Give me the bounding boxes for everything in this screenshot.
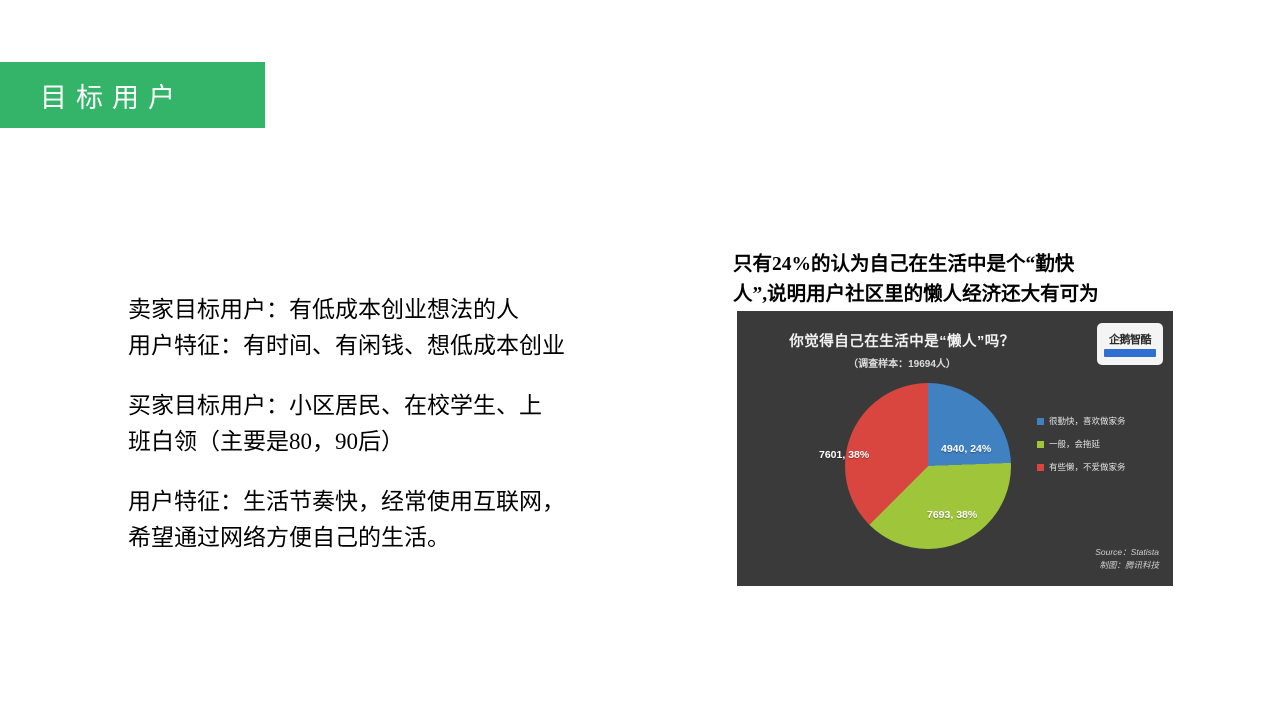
legend-label-0: 很勤快，喜欢做家务 xyxy=(1049,415,1126,427)
legend-swatch-icon xyxy=(1037,441,1044,448)
pie-circle xyxy=(845,383,1011,549)
page-title: 目标用户 xyxy=(0,76,184,115)
legend-label-1: 一般，会拖延 xyxy=(1049,438,1100,450)
legend-swatch-icon xyxy=(1037,464,1044,471)
legend-item-2: 有些懒，不爱做家务 xyxy=(1037,461,1169,473)
slide-header-banner: 目标用户 xyxy=(0,62,265,128)
legend-item-0: 很勤快，喜欢做家务 xyxy=(1037,415,1169,427)
pie-slice-label-2: 7601, 38% xyxy=(819,449,869,461)
penguin-intelligence-logo: 企鹅智酷 xyxy=(1097,323,1163,365)
survey-pie-chart-image: 你觉得自己在生活中是“懒人”吗？ （调查样本：19694人） 企鹅智酷 4940… xyxy=(737,311,1173,586)
pie-chart: 4940, 24% 7693, 38% 7601, 38% xyxy=(845,383,1011,549)
legend-label-2: 有些懒，不爱做家务 xyxy=(1049,461,1126,473)
chart-caption: 只有24%的认为自己在生活中是个“勤快 人”,说明用户社区里的懒人经济还大有可为 xyxy=(733,250,1185,310)
chart-source-block: Source：Statista 制图：腾讯科技 xyxy=(1095,546,1159,572)
pie-slice-label-0: 4940, 24% xyxy=(941,443,991,455)
paragraph-buyer-target: 买家目标用户：小区居民、在校学生、上 班白领（主要是80，90后） xyxy=(128,388,653,460)
source-line-1: 制图：腾讯科技 xyxy=(1095,559,1159,572)
chart-title: 你觉得自己在生活中是“懒人”吗？ xyxy=(737,330,1067,351)
chart-subtitle: （调查样本：19694人） xyxy=(737,355,1067,370)
logo-bar xyxy=(1104,349,1156,357)
chart-legend: 很勤快，喜欢做家务 一般，会拖延 有些懒，不爱做家务 xyxy=(1037,415,1169,484)
legend-item-1: 一般，会拖延 xyxy=(1037,438,1169,450)
paragraph-seller-target: 卖家目标用户：有低成本创业想法的人 用户特征：有时间、有闲钱、想低成本创业 xyxy=(128,292,653,364)
paragraph-user-traits: 用户特征：生活节奏快，经常使用互联网， 希望通过网络方便自己的生活。 xyxy=(128,484,653,556)
source-line-0: Source：Statista xyxy=(1095,546,1159,559)
pie-slice-label-1: 7693, 38% xyxy=(927,509,977,521)
legend-swatch-icon xyxy=(1037,418,1044,425)
logo-text: 企鹅智酷 xyxy=(1109,331,1151,347)
body-text-block: 卖家目标用户：有低成本创业想法的人 用户特征：有时间、有闲钱、想低成本创业 买家… xyxy=(128,292,653,556)
